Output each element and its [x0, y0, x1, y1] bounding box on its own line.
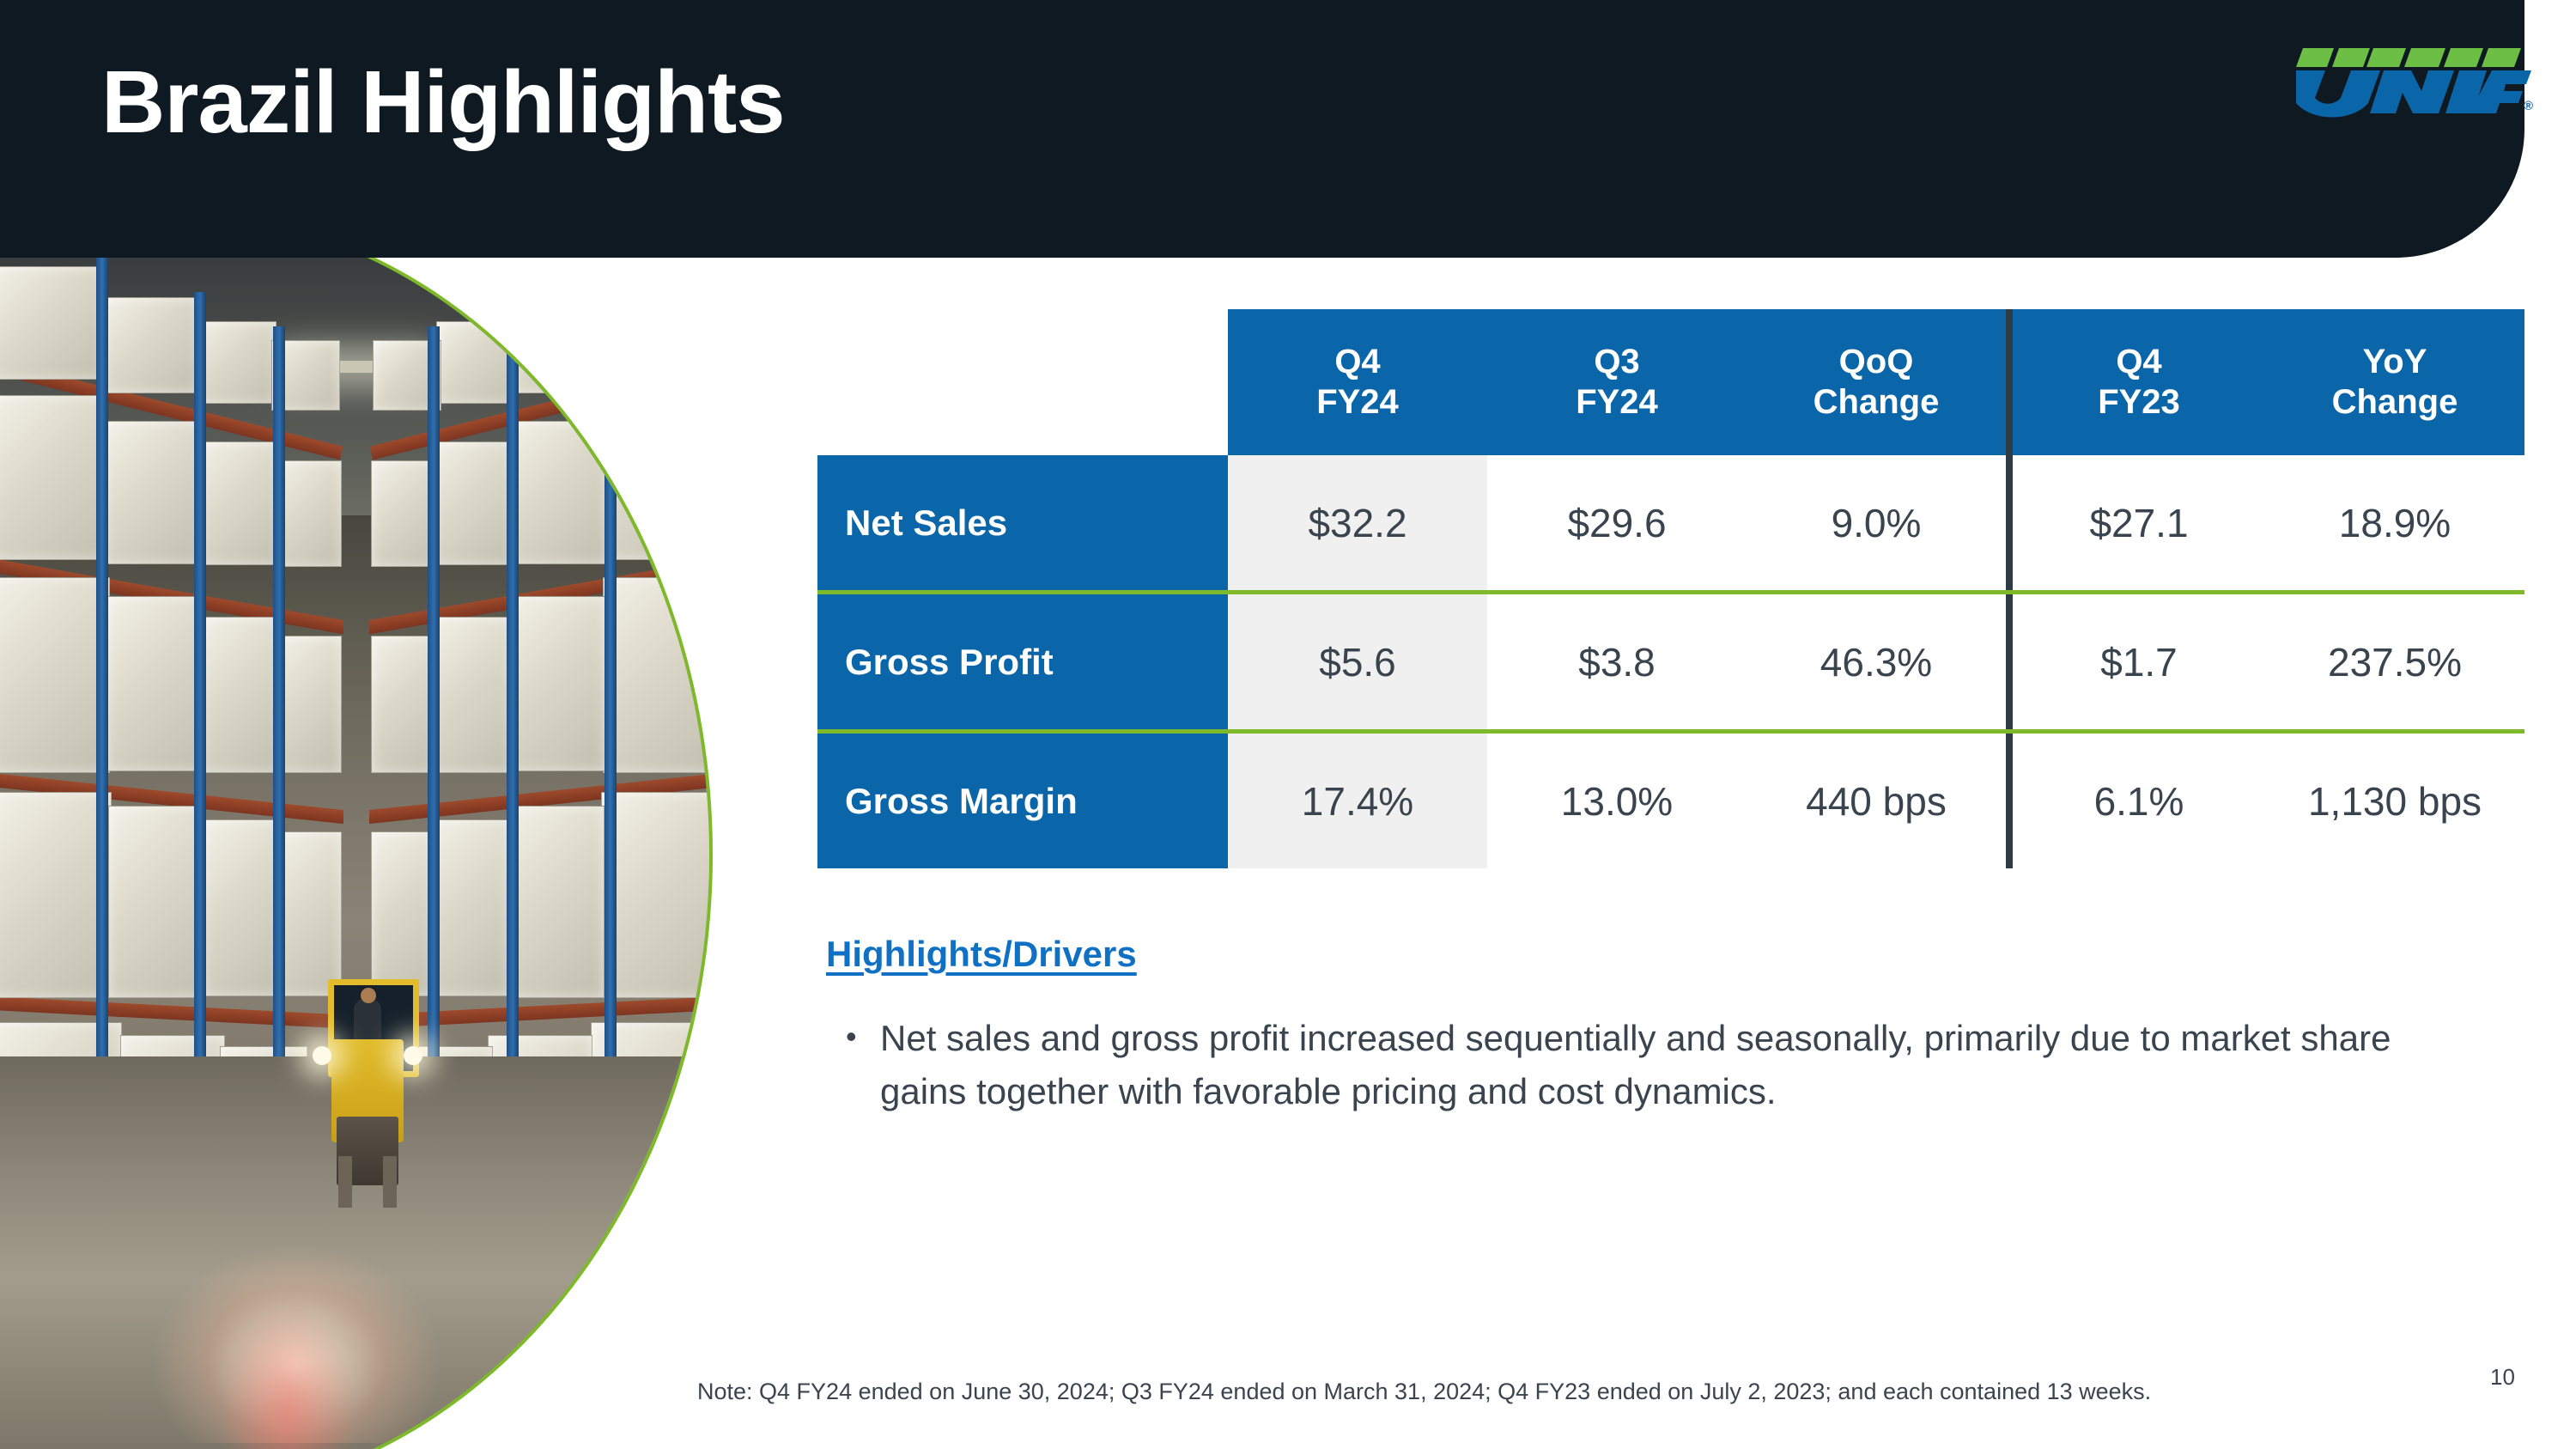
cell-net-sales-q4-fy23: $27.1: [2006, 455, 2265, 590]
forklift: [316, 979, 419, 1202]
registered-mark-icon: ®: [2524, 99, 2533, 113]
cell-gross-profit-q4-fy24: $5.6: [1228, 594, 1487, 729]
column-header-line1: Q4: [1334, 342, 1380, 382]
cell-gross-profit-q3-fy24: $3.8: [1487, 594, 1747, 729]
column-header-line1: Q4: [2116, 342, 2161, 382]
cell-net-sales-q4-fy24: $32.2: [1228, 455, 1487, 590]
list-item: • Net sales and gross profit increased s…: [846, 1012, 2460, 1118]
cell-gross-margin-q4-fy23: 6.1%: [2006, 734, 2265, 868]
cell-gross-profit-yoy-change: 237.5%: [2265, 594, 2524, 729]
page-title: Brazil Highlights: [101, 53, 785, 150]
table-row: Gross Margin 17.4% 13.0% 440 bps 6.1% 1,…: [817, 734, 2524, 868]
page-number: 10: [2490, 1364, 2515, 1391]
row-label-net-sales: Net Sales: [817, 455, 1228, 590]
highlights-drivers-heading: Highlights/Drivers: [826, 934, 1137, 975]
column-header-line2: FY24: [1576, 382, 1658, 423]
column-header-line2: Change: [2332, 382, 2458, 423]
column-header-line2: FY23: [2098, 382, 2180, 423]
column-header-q4-fy23: Q4 FY23: [2006, 309, 2265, 455]
cell-gross-profit-q4-fy23: $1.7: [2006, 594, 2265, 729]
column-header-q3-fy24: Q3 FY24: [1487, 309, 1747, 455]
cell-net-sales-q3-fy24: $29.6: [1487, 455, 1747, 590]
row-label-gross-margin: Gross Margin: [817, 734, 1228, 868]
cell-net-sales-yoy-change: 18.9%: [2265, 455, 2524, 590]
cell-gross-profit-qoq-change: 46.3%: [1747, 594, 2006, 729]
cell-net-sales-qoq-change: 9.0%: [1747, 455, 2006, 590]
cell-gross-margin-q3-fy24: 13.0%: [1487, 734, 1747, 868]
table-row: Gross Profit $5.6 $3.8 46.3% $1.7 237.5%: [817, 594, 2524, 729]
column-header-line1: YoY: [2363, 342, 2427, 382]
cell-gross-margin-yoy-change: 1,130 bps: [2265, 734, 2524, 868]
cell-gross-margin-qoq-change: 440 bps: [1747, 734, 2006, 868]
table-header-row: Q4 FY24 Q3 FY24 QoQ Change Q4 FY23 YoY C…: [817, 309, 2524, 455]
table-row: Net Sales $32.2 $29.6 9.0% $27.1 18.9%: [817, 455, 2524, 590]
warehouse-photo: [0, 258, 713, 1449]
column-header-yoy-change: YoY Change: [2265, 309, 2524, 455]
list-item-text: Net sales and gross profit increased seq…: [880, 1012, 2460, 1118]
metrics-table: Q4 FY24 Q3 FY24 QoQ Change Q4 FY23 YoY C…: [817, 309, 2524, 868]
unifi-logo: ®: [2277, 24, 2535, 119]
cell-gross-margin-q4-fy24: 17.4%: [1228, 734, 1487, 868]
highlights-bullet-list: • Net sales and gross profit increased s…: [846, 1012, 2460, 1118]
column-header-line2: FY24: [1316, 382, 1399, 423]
table-header-corner: [817, 309, 1228, 455]
column-header-q4-fy24: Q4 FY24: [1228, 309, 1487, 455]
column-header-qoq-change: QoQ Change: [1747, 309, 2006, 455]
row-label-gross-profit: Gross Profit: [817, 594, 1228, 729]
column-header-line2: Change: [1814, 382, 1940, 423]
bullet-dot-icon: •: [846, 1012, 880, 1062]
footnote: Note: Q4 FY24 ended on June 30, 2024; Q3…: [697, 1379, 2151, 1405]
column-header-line1: Q3: [1594, 342, 1639, 382]
column-header-line1: QoQ: [1839, 342, 1914, 382]
